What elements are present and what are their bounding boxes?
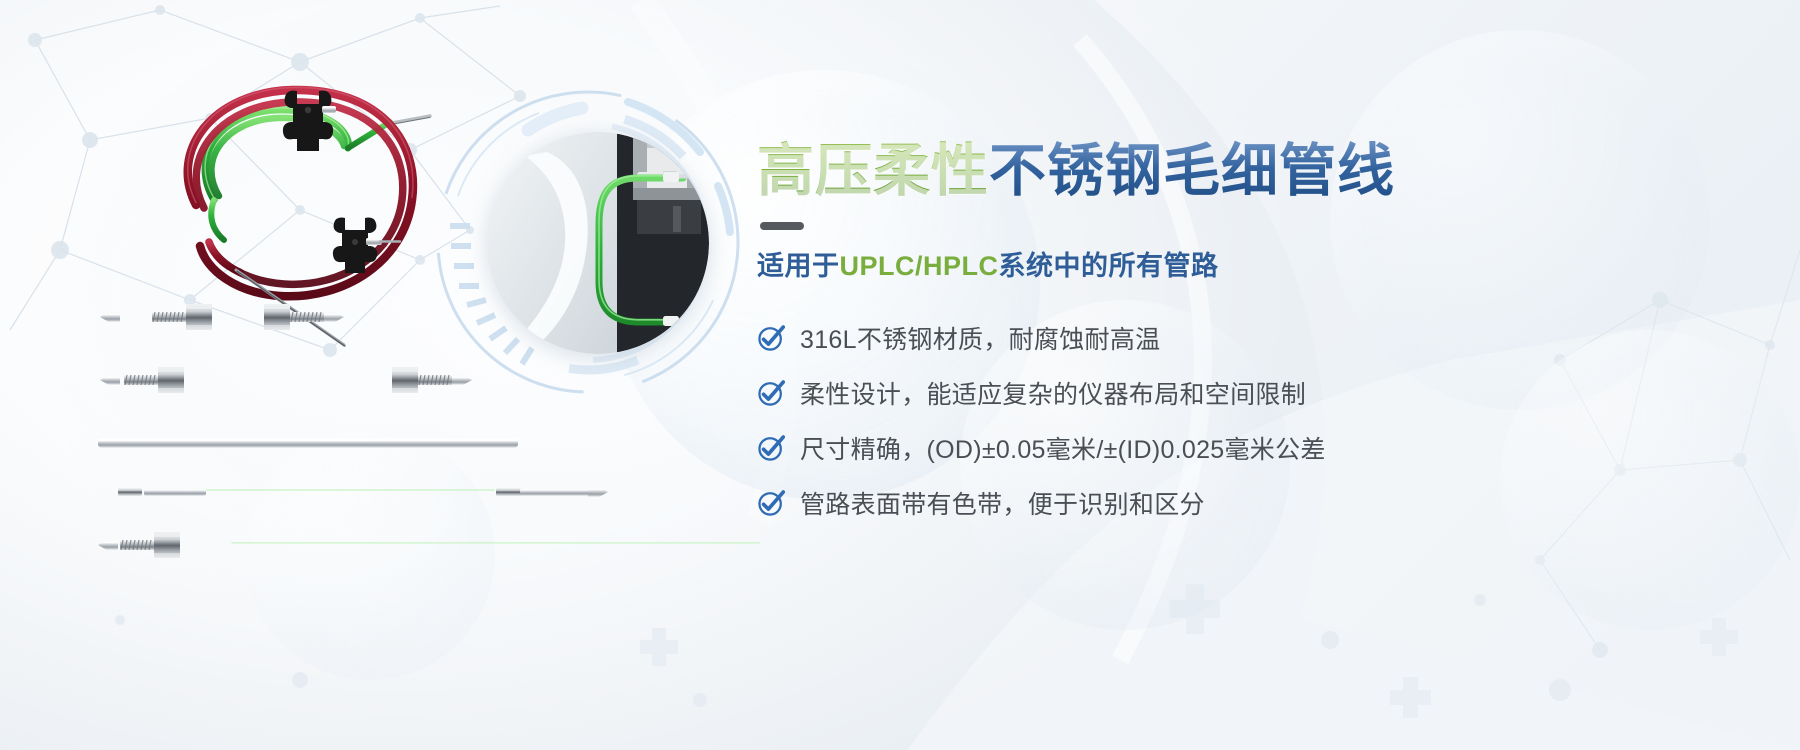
subtitle-tail: 系统中的所有管路 [999, 251, 1219, 281]
green-striped-capillary [98, 488, 608, 497]
feature-item: 尺寸精确，(OD)±0.05毫米/±(ID)0.025毫米公差 [757, 421, 1757, 476]
title-green-segment: 高压柔性 [757, 139, 989, 203]
subtitle-highlight: UPLC/HPLC [840, 251, 999, 281]
feature-item: 管路表面带有色带，便于识别和区分 [757, 476, 1757, 531]
banner-content: 高压柔性不锈钢毛细管线 适用于UPLC/HPLC系统中的所有管路 316L不锈钢… [757, 140, 1757, 531]
product-photography [0, 0, 760, 750]
feature-text: 柔性设计，能适应复杂的仪器布局和空间限制 [800, 375, 1306, 411]
decorative-cross-shapes [640, 584, 1738, 718]
medium-capillary-assembly [98, 367, 482, 393]
page-title: 高压柔性不锈钢毛细管线 [757, 140, 1757, 204]
feature-text: 尺寸精确，(OD)±0.05毫米/±(ID)0.025毫米公差 [800, 430, 1326, 466]
coiled-tubing-photo [188, 87, 430, 346]
product-banner: 高压柔性不锈钢毛细管线 适用于UPLC/HPLC系统中的所有管路 316L不锈钢… [0, 0, 1800, 750]
check-circle-icon [757, 489, 785, 517]
feature-text: 管路表面带有色带，便于识别和区分 [800, 485, 1205, 521]
feature-item: 柔性设计，能适应复杂的仪器布局和空间限制 [757, 366, 1757, 421]
feature-text: 316L不锈钢材质，耐腐蚀耐高温 [800, 320, 1160, 356]
check-circle-icon [757, 379, 785, 407]
check-circle-icon [757, 434, 785, 462]
feature-list: 316L不锈钢材质，耐腐蚀耐高温 柔性设计，能适应复杂的仪器布局和空间限制 尺寸… [757, 311, 1757, 531]
bare-capillary-tube [98, 439, 518, 448]
long-green-capillary-assembly [96, 532, 760, 558]
black-cross-fitting [333, 218, 377, 273]
check-circle-icon [757, 324, 785, 352]
title-blue-segment: 不锈钢毛细管线 [989, 139, 1395, 203]
page-subtitle: 适用于UPLC/HPLC系统中的所有管路 [757, 244, 1757, 283]
title-divider [760, 222, 804, 230]
subtitle-lead: 适用于 [757, 251, 840, 281]
feature-item: 316L不锈钢材质，耐腐蚀耐高温 [757, 311, 1757, 366]
